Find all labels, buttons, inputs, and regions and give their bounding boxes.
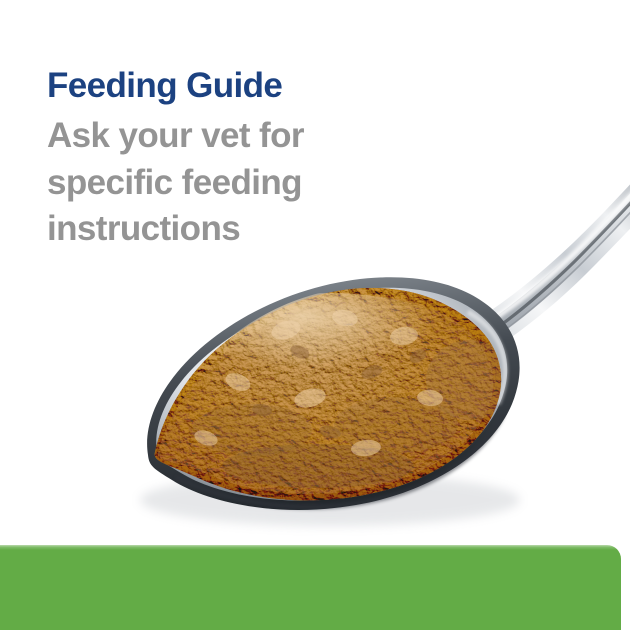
subhead-line-3: instructions	[47, 206, 447, 253]
pet-food-mound	[150, 288, 514, 506]
subhead-line-2: specific feeding	[47, 160, 447, 207]
subhead-line-1: Ask your vet for	[47, 113, 447, 160]
footer-band-sheen	[0, 545, 621, 550]
feeding-guide-card: Feeding Guide Ask your vet for specific …	[0, 0, 630, 630]
page-title: Feeding Guide	[47, 68, 447, 103]
subhead: Ask your vet for specific feeding instru…	[47, 113, 447, 253]
footer-band	[0, 545, 621, 630]
copy-block: Feeding Guide Ask your vet for specific …	[47, 68, 447, 253]
